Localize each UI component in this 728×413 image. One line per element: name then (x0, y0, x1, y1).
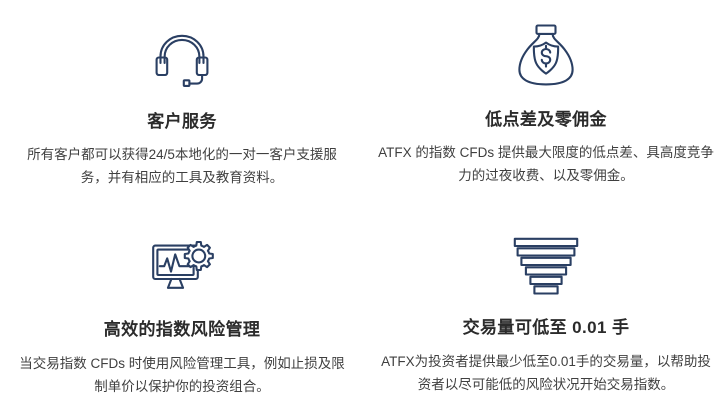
feature-card-customer-service: 客户服务 所有客户都可以获得24/5本地化的一对一客户支援服务，并有相应的工具及… (0, 0, 364, 206)
feature-title: 客户服务 (147, 107, 217, 132)
money-bag-shield-dollar-icon (515, 22, 577, 88)
feature-title: 交易量可低至 0.01 手 (463, 313, 630, 338)
monitor-chart-gear-icon (150, 237, 214, 297)
feature-card-low-spread: 低点差及零佣金 ATFX 的指数 CFDs 提供最大限度的低点差、具高度竞争力的… (364, 0, 728, 206)
feature-card-risk-management: 高效的指数风险管理 当交易指数 CFDs 时使用风险管理工具，例如止损及限制单价… (0, 206, 364, 413)
feature-description: ATFX 的指数 CFDs 提供最大限度的低点差、具高度竞争力的过夜收费、以及零… (378, 141, 714, 187)
funnel-bars-icon (513, 237, 579, 295)
feature-description: 当交易指数 CFDs 时使用风险管理工具，例如止损及限制单价以保护你的投资组合。 (14, 352, 350, 398)
feature-description: 所有客户都可以获得24/5本地化的一对一客户支援服务，并有相应的工具及教育资料。 (14, 143, 350, 189)
feature-title: 高效的指数风险管理 (104, 315, 261, 340)
features-grid: 客户服务 所有客户都可以获得24/5本地化的一对一客户支援服务，并有相应的工具及… (0, 0, 728, 413)
feature-description: ATFX为投资者提供最少低至0.01手的交易量，以帮助投资者以尽可能低的风险状况… (378, 350, 714, 396)
feature-card-min-lot-size: 交易量可低至 0.01 手 ATFX为投资者提供最少低至0.01手的交易量，以帮… (364, 206, 728, 413)
feature-title: 低点差及零佣金 (485, 105, 607, 130)
headset-icon (152, 30, 212, 90)
